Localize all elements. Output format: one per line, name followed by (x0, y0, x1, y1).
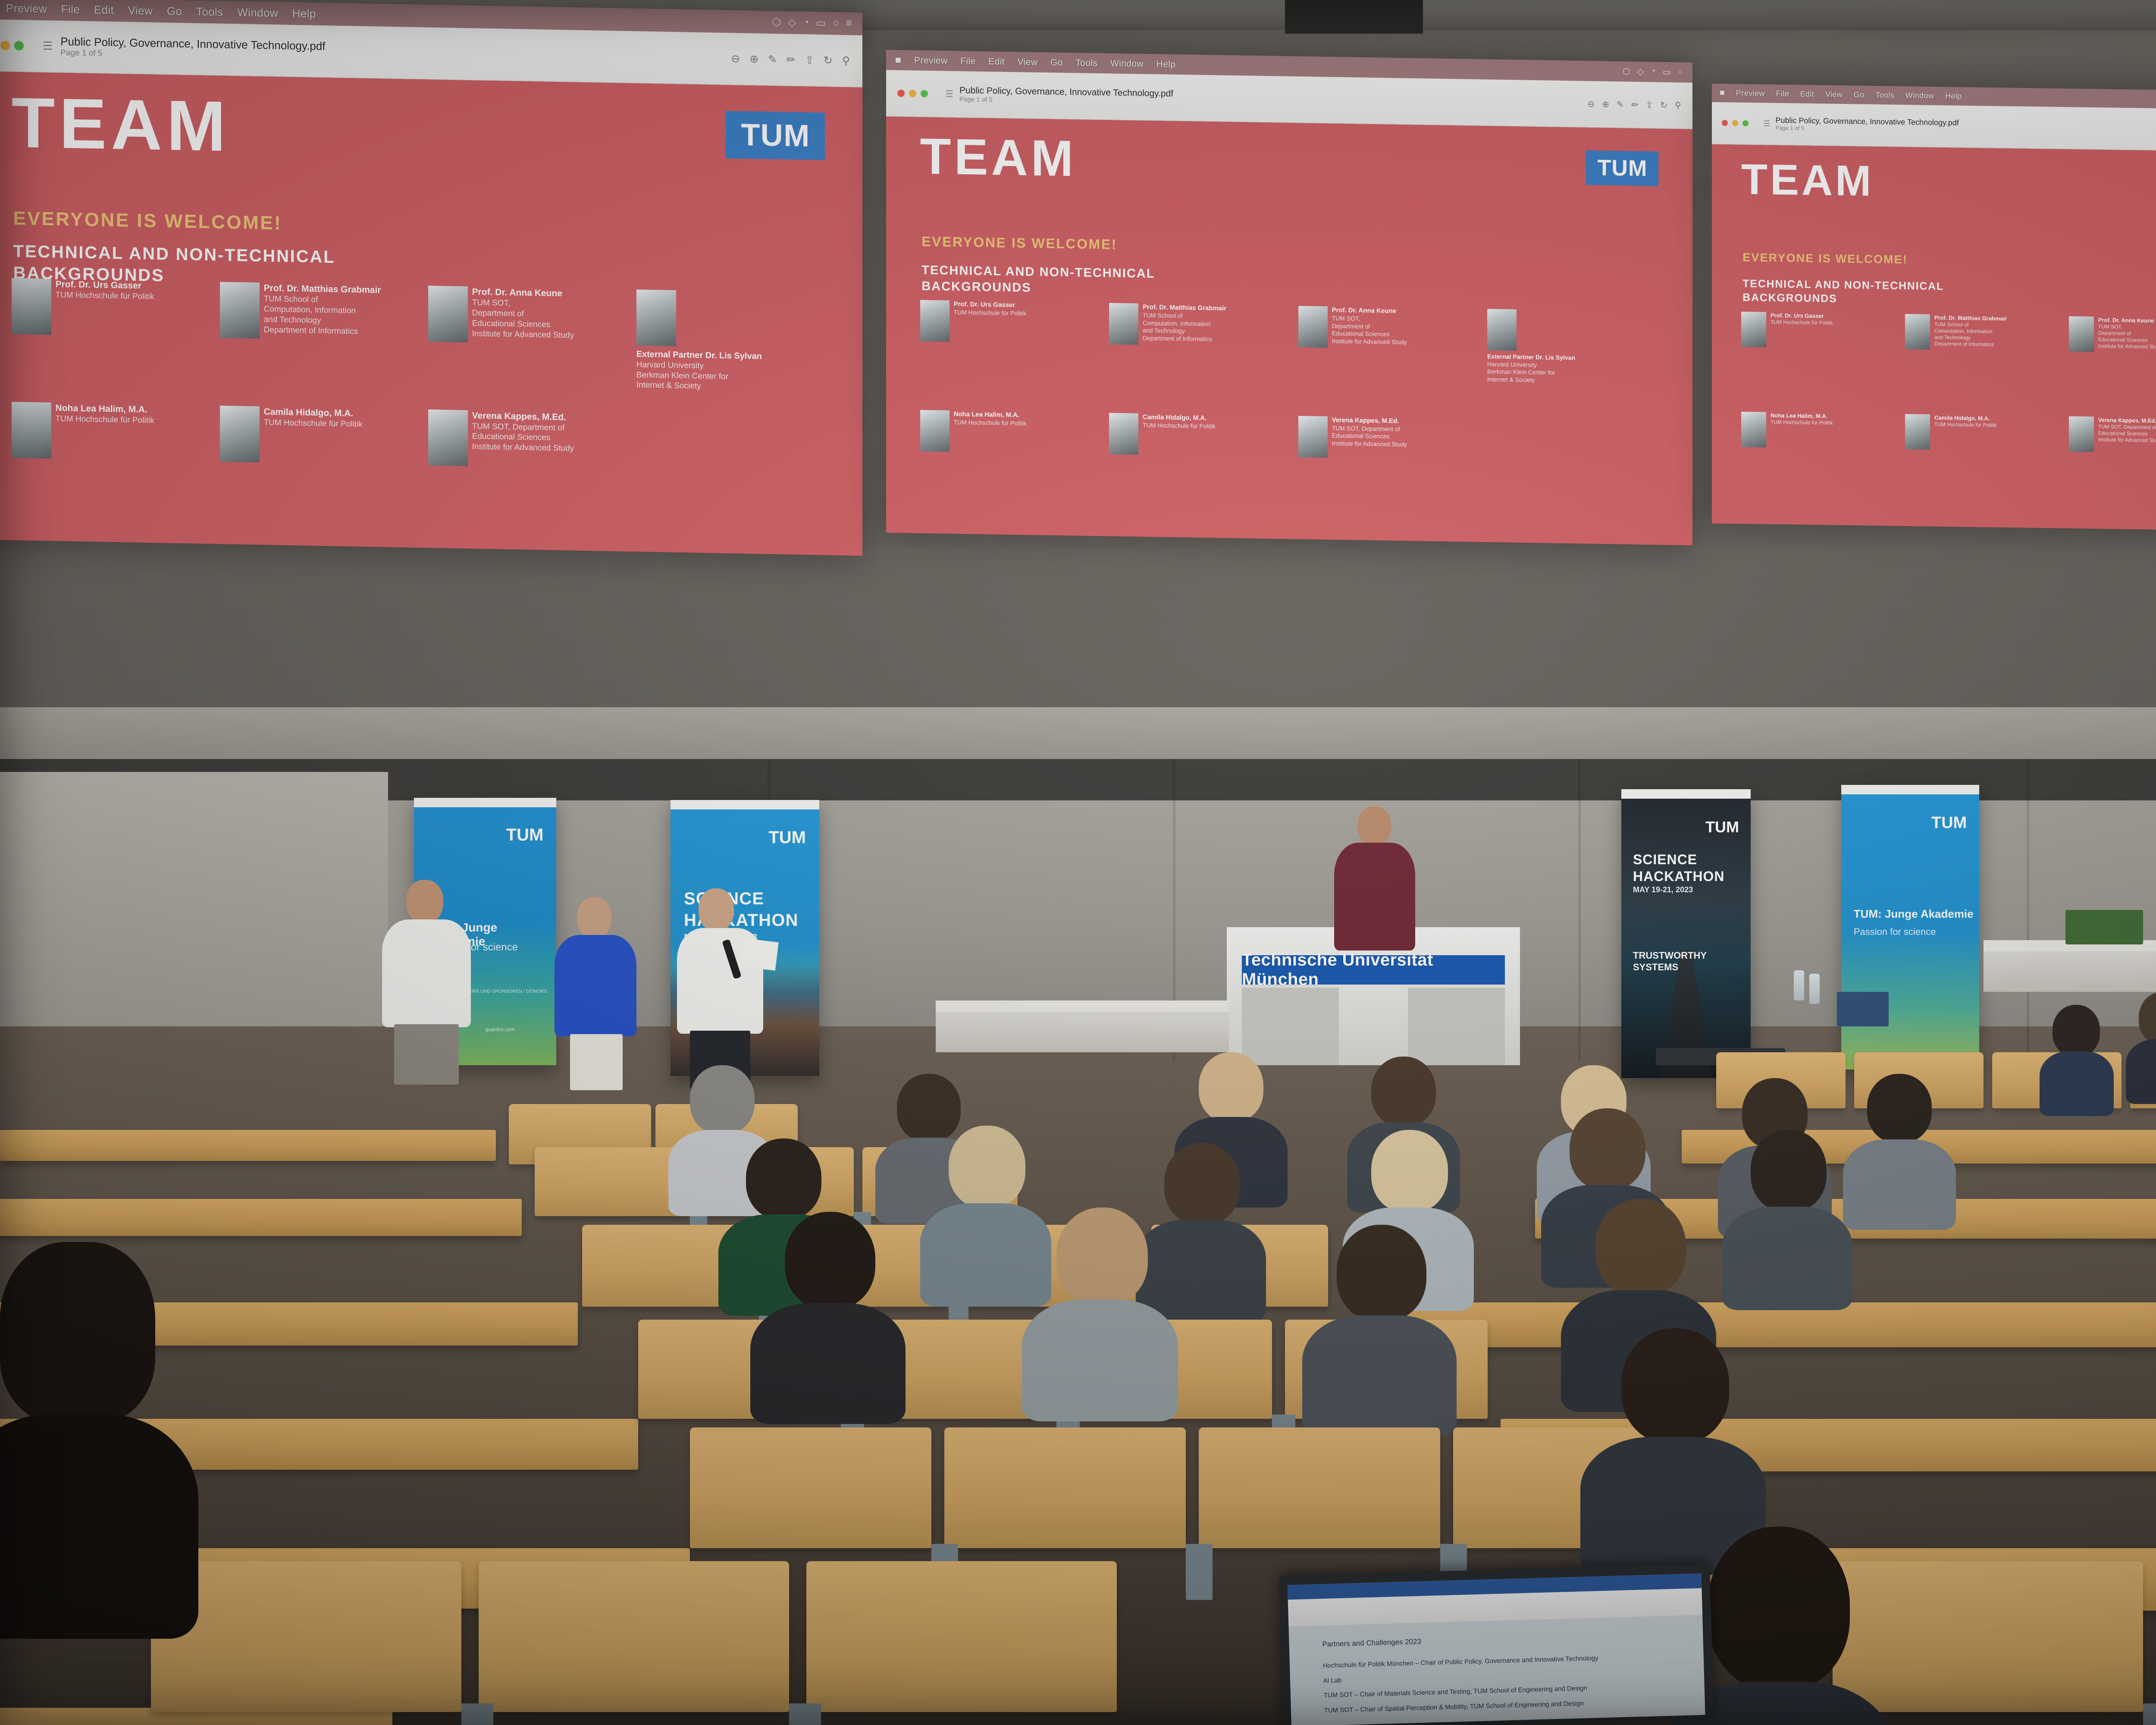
battery-icon[interactable]: ▭ (1663, 67, 1671, 78)
presenter-left (379, 880, 483, 1082)
speech-paper (740, 938, 778, 971)
bottle (1809, 974, 1820, 1004)
menu-item-view[interactable]: View (128, 4, 153, 18)
markup-icon[interactable]: ✏ (1631, 99, 1639, 110)
sidebar-icon[interactable]: ☰ (43, 39, 53, 53)
wall-seam (2027, 759, 2029, 1061)
banner-junge-akademie-right: TUM TUM: Junge Akademie Passion for scie… (1841, 785, 1979, 1069)
document-heading: Partners and Challenges 2023 (1322, 1626, 1678, 1653)
zoom-out-icon[interactable]: ⊖ (1588, 99, 1595, 110)
lecture-hall-photo: ■ Preview File Edit View Go Tools Window… (0, 0, 2156, 1725)
menu-item-edit[interactable]: Edit (1800, 89, 1814, 98)
slide-subtitle-accent: EVERYONE IS WELCOME! (1742, 251, 1908, 267)
projection-screen-right: ■ Preview File Edit View Go Tools Window… (1712, 84, 2156, 533)
zoom-out-icon[interactable]: ⊖ (731, 52, 740, 65)
menu-item-preview[interactable]: Preview (914, 55, 948, 66)
control-center-icon[interactable]: ≡ (846, 17, 852, 30)
clock-icon[interactable]: ○ (833, 17, 839, 30)
crate-blue (1837, 992, 1889, 1026)
slide-title: TEAM (12, 91, 230, 159)
menu-item-edit[interactable]: Edit (988, 56, 1005, 67)
slide-subtitle: TECHNICAL AND NON-TECHNICAL BACKGROUNDS (1742, 277, 1944, 307)
slide-subtitle-accent: EVERYONE IS WELCOME! (921, 233, 1117, 252)
dropbox-icon[interactable]: ◇ (1637, 66, 1643, 77)
window-traffic-lights[interactable] (0, 41, 24, 51)
apple-menu-icon[interactable]: ■ (895, 54, 902, 66)
sidebar-icon[interactable]: ☰ (1763, 119, 1770, 128)
banner-top-cap (414, 798, 556, 807)
laptop-screen: Partners and Challenges 2023 Hochschule … (1288, 1574, 1705, 1725)
banner-top-cap (1621, 789, 1751, 799)
share-icon[interactable]: ⇪ (1646, 100, 1653, 110)
banner-line-4: TRUSTWORTHY SYSTEMS (1633, 950, 1724, 973)
markup-icon[interactable]: ✏ (787, 53, 796, 66)
banner-line-3: MAY 19-21, 2023 (1633, 885, 1693, 894)
menu-item-file[interactable]: File (960, 56, 975, 67)
slide-people-grid-left: Prof. Dr. Urs Gasser TUM Hochschule für … (12, 278, 845, 551)
share-icon[interactable]: ⇪ (805, 53, 814, 66)
slide-right: TEAM TUM EVERYONE IS WELCOME! TECHNICAL … (1712, 144, 2156, 533)
bluetooth-icon[interactable]: ⬡ (1623, 66, 1630, 77)
zoom-in-icon[interactable]: ⊕ (749, 53, 758, 66)
projection-screen-middle: ■ Preview File Edit View Go Tools Window… (886, 50, 1692, 545)
rotate-icon[interactable]: ↻ (1660, 100, 1667, 110)
apple-menu-icon[interactable]: ■ (1720, 88, 1725, 98)
banner-line-2: Passion for science (1854, 926, 1936, 938)
wifi-icon[interactable]: ◔ (803, 16, 809, 29)
laptop: Partners and Challenges 2023 Hochschule … (1281, 1570, 1720, 1725)
lectern-panel-left (1242, 988, 1339, 1065)
side-table-right (1984, 940, 2156, 992)
banner-top-cap (1841, 785, 1979, 794)
menu-item-edit[interactable]: Edit (94, 3, 114, 17)
presenter-right (677, 888, 776, 1082)
menu-item-tools[interactable]: Tools (1075, 58, 1097, 69)
highlight-icon[interactable]: ✎ (1617, 99, 1624, 110)
wall-seam (1578, 759, 1581, 1061)
search-icon[interactable]: ⚲ (842, 54, 850, 67)
banner-line-2: HACKATHON (1633, 869, 1724, 884)
lectern-panel-right (1408, 988, 1505, 1065)
window-traffic-lights[interactable] (897, 90, 928, 97)
menu-item-go[interactable]: Go (1854, 90, 1865, 99)
tum-logo-icon: TUM (506, 825, 544, 845)
projection-screen-left: ■ Preview File Edit View Go Tools Window… (0, 0, 862, 556)
banner-science-hackathon-right: TUM SCIENCE HACKATHON MAY 19-21, 2023 TR… (1621, 789, 1751, 1078)
menu-item-go[interactable]: Go (1050, 57, 1063, 68)
menu-item-tools[interactable]: Tools (196, 5, 223, 19)
lectern-sign: Technische Universität München (1242, 955, 1505, 985)
menu-item-view[interactable]: View (1018, 57, 1038, 68)
menu-item-view[interactable]: View (1825, 90, 1843, 99)
preview-toolbar[interactable]: ⊖ ⊕ ✎ ✏ ⇪ ↻ ⚲ (1588, 99, 1681, 111)
slide-title: TEAM (1741, 160, 1874, 201)
tum-logo-icon: TUM (1586, 150, 1658, 186)
presenter-middle (552, 897, 645, 1082)
dropbox-icon[interactable]: ◇ (788, 16, 796, 29)
menu-item-preview[interactable]: Preview (1736, 88, 1765, 98)
menu-item-file[interactable]: File (61, 3, 80, 16)
banner-line-1: SCIENCE (1633, 852, 1697, 868)
menu-item-help[interactable]: Help (1156, 59, 1176, 70)
zoom-in-icon[interactable]: ⊕ (1602, 99, 1609, 110)
slide-subtitle-accent: EVERYONE IS WELCOME! (13, 208, 282, 234)
menu-item-window[interactable]: Window (1905, 91, 1934, 100)
slide-title: TEAM (920, 134, 1077, 182)
word-document-body: Partners and Challenges 2023 Hochschule … (1322, 1626, 1680, 1725)
battery-icon[interactable]: ▭ (816, 17, 826, 29)
banner-top-cap (671, 800, 819, 809)
sponsor-logo-quantco: quantco.com (485, 1026, 515, 1032)
banner-line-1: TUM: Junge Akademie (1854, 907, 1974, 921)
slide-people-grid-right: Prof. Dr. Urs Gasser TUM Hochschule für … (1741, 311, 2156, 529)
sidebar-icon[interactable]: ☰ (945, 88, 953, 99)
search-icon[interactable]: ⚲ (1675, 100, 1681, 111)
ceiling-duct (1285, 0, 1423, 34)
menu-item-help[interactable]: Help (1945, 91, 1962, 101)
slide-people-grid-middle: Prof. Dr. Urs Gasser TUM Hochschule für … (920, 300, 1677, 541)
crate-green (2065, 910, 2143, 944)
tum-logo-icon: TUM (768, 828, 806, 847)
side-table-left (936, 1000, 1229, 1052)
tum-logo-icon: TUM (1931, 814, 1967, 832)
clock-icon[interactable]: ○ (1678, 67, 1683, 78)
menu-item-go[interactable]: Go (167, 4, 182, 18)
presenter-podium (1324, 806, 1423, 944)
menu-item-window[interactable]: Window (1110, 58, 1144, 69)
slide-middle: TEAM TUM EVERYONE IS WELCOME! TECHNICAL … (886, 116, 1692, 546)
tum-logo-icon: TUM (726, 111, 825, 160)
left-side-wall (0, 772, 388, 1048)
bluetooth-icon[interactable]: ⬡ (772, 16, 781, 28)
tum-logo-icon: TUM (1705, 818, 1739, 836)
highlight-icon[interactable]: ✎ (768, 53, 777, 66)
menu-item-help[interactable]: Help (292, 7, 316, 21)
slide-subtitle: TECHNICAL AND NON-TECHNICAL BACKGROUNDS (921, 263, 1155, 298)
menu-item-tools[interactable]: Tools (1875, 91, 1894, 100)
wifi-icon[interactable]: ◔ (1651, 66, 1656, 77)
rotate-icon[interactable]: ↻ (824, 54, 833, 67)
preview-toolbar[interactable]: ⊖ ⊕ ✎ ✏ ⇪ ↻ ⚲ (731, 52, 850, 67)
menu-item-window[interactable]: Window (237, 6, 278, 20)
menu-item-file[interactable]: File (1776, 89, 1789, 98)
slide-left: TEAM TUM EVERYONE IS WELCOME! TECHNICAL … (0, 71, 862, 556)
bottle (1794, 970, 1804, 1000)
window-traffic-lights[interactable] (1722, 120, 1749, 126)
menu-item-preview[interactable]: Preview (6, 1, 47, 16)
